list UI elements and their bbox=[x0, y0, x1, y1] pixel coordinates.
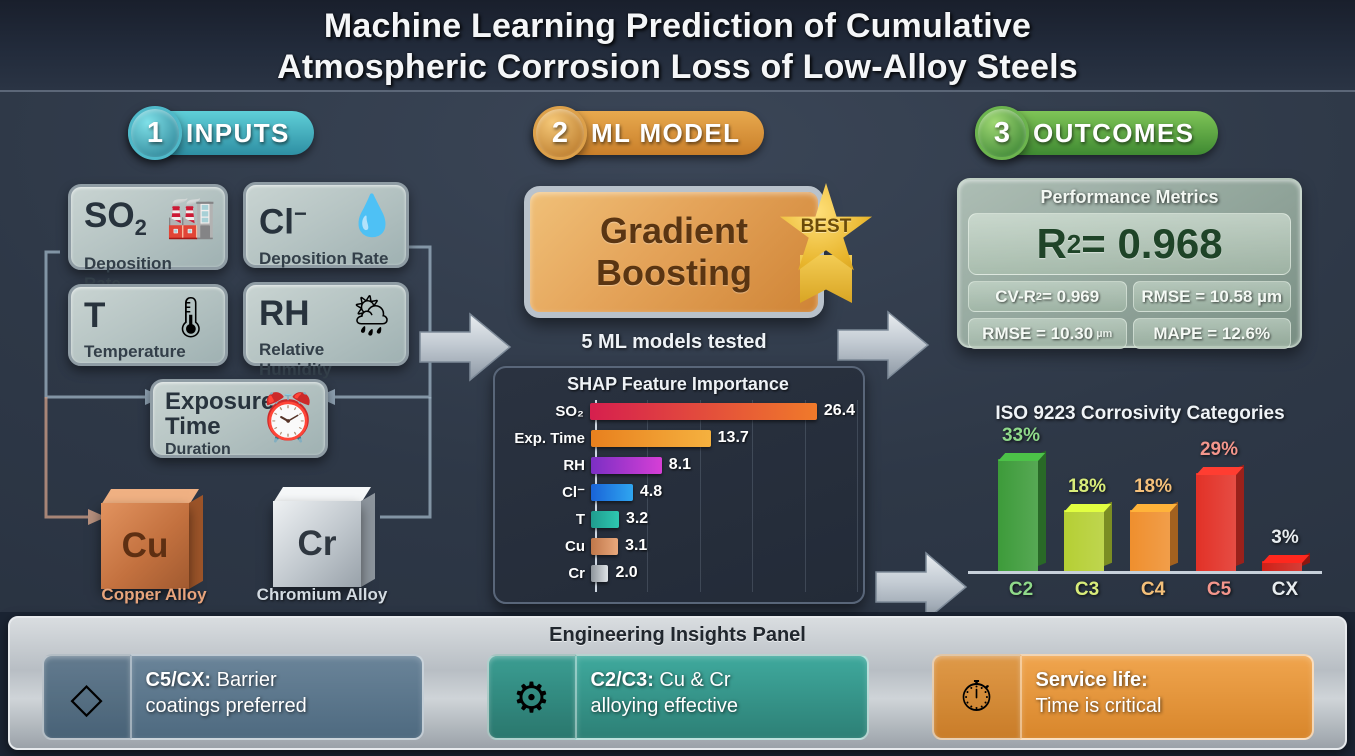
so2-symbol-text: SO bbox=[84, 196, 135, 235]
metric-cv-r2-text: CV-R bbox=[995, 287, 1036, 307]
input-card-temperature[interactable]: T Temperature 🌡 bbox=[68, 284, 228, 366]
step-number-3: 3 bbox=[975, 106, 1029, 160]
metric-rmse: RMSE = 10.58 µm bbox=[1133, 281, 1292, 312]
insight-card[interactable]: ⚙C2/C3: Cu & Cralloying effective bbox=[487, 654, 869, 740]
shap-bar bbox=[591, 430, 711, 447]
alarm-clock-icon: ⏰ bbox=[260, 396, 317, 438]
insight-card-line-2: Time is critical bbox=[1036, 695, 1162, 717]
input-card-exposure-time[interactable]: Exposure Time Duration ⏰ bbox=[150, 379, 328, 458]
iso-bar-side bbox=[1236, 465, 1244, 566]
metric-rmse-2-text: RMSE = 10.30 bbox=[982, 324, 1093, 344]
step-label-model: ML MODEL bbox=[591, 118, 740, 149]
iso-value-label: 29% bbox=[1190, 439, 1248, 461]
shap-category-label: RH bbox=[501, 457, 591, 474]
input-card-chloride[interactable]: Cl− Deposition Rate 💧 bbox=[243, 182, 409, 268]
shap-category-label: Cr bbox=[501, 565, 591, 582]
shap-bar-row: SO₂26.4 bbox=[501, 400, 855, 422]
insight-card-bold: C2/C3: bbox=[591, 669, 654, 691]
shap-value-label: 3.1 bbox=[625, 537, 647, 555]
iso-corrosivity-chart: 33%C218%C318%C429%C53%CX bbox=[960, 430, 1330, 602]
iso-bar-column: 18%C4 bbox=[1130, 510, 1176, 571]
iso-baseline bbox=[968, 571, 1322, 574]
metrics-grid: CV-R2 = 0.969 RMSE = 10.58 µm RMSE = 10.… bbox=[968, 281, 1291, 349]
iso-category-label: C5 bbox=[1189, 579, 1249, 601]
iso-bar-side bbox=[1104, 502, 1112, 566]
copper-cube-side bbox=[189, 495, 203, 589]
r2-value: = 0.968 bbox=[1081, 220, 1222, 268]
model-card-gradient-boosting[interactable]: Gradient Boosting bbox=[524, 186, 824, 318]
iso-category-label: C2 bbox=[991, 579, 1051, 601]
shap-category-label: T bbox=[501, 511, 591, 528]
insights-card-row: ◇C5/CX: Barriercoatings preferred⚙C2/C3:… bbox=[10, 654, 1345, 740]
iso-bar-front bbox=[1130, 510, 1170, 571]
insight-card-text: Service life:Time is critical bbox=[1020, 654, 1314, 740]
iso-bar-column: 18%C3 bbox=[1064, 510, 1110, 571]
shap-value-label: 26.4 bbox=[824, 402, 855, 420]
iso-bar bbox=[1262, 561, 1308, 571]
metric-cv-r2: CV-R2 = 0.969 bbox=[968, 281, 1127, 312]
chromium-cube-symbol: Cr bbox=[273, 501, 361, 587]
step-label-outcomes: OUTCOMES bbox=[1033, 118, 1194, 149]
shap-bar-row: RH8.1 bbox=[501, 454, 855, 476]
iso-bar-column: 33%C2 bbox=[998, 459, 1044, 571]
insight-card[interactable]: ⏱Service life:Time is critical bbox=[932, 654, 1314, 740]
insight-card[interactable]: ◇C5/CX: Barriercoatings preferred bbox=[42, 654, 424, 740]
engineering-insights-panel: Engineering Insights Panel ◇C5/CX: Barri… bbox=[8, 616, 1347, 750]
iso-bar-top bbox=[1196, 467, 1243, 475]
performance-metrics-panel: Performance Metrics R2 = 0.968 CV-R2 = 0… bbox=[957, 178, 1302, 348]
metrics-panel-title: Performance Metrics bbox=[968, 187, 1291, 208]
thermometer-icon: 🌡 bbox=[165, 297, 216, 339]
shap-bar-row: Cr2.0 bbox=[501, 562, 855, 584]
alloy-label-copper: Copper Alloy bbox=[92, 585, 216, 605]
r2-prefix: R bbox=[1036, 220, 1066, 268]
shap-category-label: Exp. Time bbox=[501, 430, 591, 447]
layers-coating-icon: ◇ bbox=[42, 654, 130, 740]
shap-bar bbox=[591, 538, 618, 555]
iso-value-label: 18% bbox=[1124, 476, 1182, 498]
insight-card-text: C2/C3: Cu & Cralloying effective bbox=[575, 654, 869, 740]
alloy-label-chromium: Chromium Alloy bbox=[238, 585, 406, 605]
input-card-humidity[interactable]: RH Relative Humidity 🌦 bbox=[243, 282, 409, 366]
iso-value-label: 18% bbox=[1058, 476, 1116, 498]
insight-card-line-2: coatings preferred bbox=[146, 695, 307, 717]
input-caption-humidity: Relative Humidity bbox=[259, 340, 393, 380]
iso-bar bbox=[998, 459, 1044, 571]
insight-card-text: C5/CX: Barriercoatings preferred bbox=[130, 654, 424, 740]
alloy-cube-copper[interactable]: Cu bbox=[93, 489, 197, 593]
shap-category-label: Cl⁻ bbox=[501, 483, 591, 501]
page-title-line-1: Machine Learning Prediction of Cumulativ… bbox=[0, 6, 1355, 47]
input-caption-temperature: Temperature bbox=[84, 342, 212, 362]
shap-bar bbox=[591, 511, 619, 528]
shap-bar bbox=[591, 484, 633, 501]
r2-headline: R2 = 0.968 bbox=[968, 213, 1291, 275]
shap-value-label: 8.1 bbox=[669, 456, 691, 474]
shap-bar bbox=[591, 565, 608, 582]
step-label-inputs: INPUTS bbox=[186, 118, 290, 149]
iso-bar-side bbox=[1038, 451, 1046, 566]
infographic-stage: INPUTS 1 ML MODEL 2 OUTCOMES 3 SO2 Depos… bbox=[0, 92, 1355, 612]
iso-value-label: 3% bbox=[1256, 527, 1314, 549]
insight-card-bold: C5/CX: bbox=[146, 669, 212, 691]
chromium-cube-side bbox=[361, 493, 375, 587]
iso-bar-top bbox=[1130, 504, 1177, 512]
iso-bar bbox=[1064, 510, 1110, 571]
best-badge-label: BEST bbox=[801, 216, 852, 238]
step-badge-inputs: INPUTS 1 bbox=[128, 109, 314, 157]
alloy-cube-chromium[interactable]: Cr bbox=[265, 487, 369, 591]
humidity-cloud-icon: 🌦 bbox=[346, 295, 397, 337]
iso-chart-title: ISO 9223 Corrosivity Categories bbox=[940, 403, 1340, 425]
water-drop-icon: 💧 bbox=[347, 195, 397, 237]
iso-bar-front bbox=[998, 459, 1038, 571]
model-subtitle: 5 ML models tested bbox=[524, 331, 824, 354]
shap-category-label: SO₂ bbox=[501, 403, 590, 420]
iso-category-label: CX bbox=[1255, 579, 1315, 601]
shap-value-label: 2.0 bbox=[615, 564, 637, 582]
shap-plot-area: SO₂26.4Exp. Time13.7RH8.1Cl⁻4.8T3.2Cu3.1… bbox=[501, 400, 855, 598]
model-name-line-2: Boosting bbox=[596, 252, 752, 294]
model-name-line-1: Gradient bbox=[600, 210, 748, 252]
input-card-so2[interactable]: SO2 Deposition Rate 🏭 bbox=[68, 184, 228, 270]
input-caption-chloride: Deposition Rate bbox=[259, 249, 393, 269]
iso-bar bbox=[1196, 473, 1242, 571]
iso-bar-side bbox=[1170, 502, 1178, 566]
shap-value-label: 13.7 bbox=[718, 429, 749, 447]
factory-icon: 🏭 bbox=[166, 197, 216, 239]
arrow-shap-to-iso bbox=[876, 553, 966, 612]
iso-bar-top bbox=[1262, 555, 1309, 563]
iso-bar-front bbox=[1196, 473, 1236, 571]
exposure-caption: Duration bbox=[165, 441, 313, 459]
metric-rmse-secondary: RMSE = 10.30µm bbox=[968, 318, 1127, 349]
shap-bar bbox=[591, 457, 662, 474]
page-title-bar: Machine Learning Prediction of Cumulativ… bbox=[0, 0, 1355, 92]
insight-card-bold: Service life: bbox=[1036, 669, 1148, 691]
copper-cube-symbol: Cu bbox=[101, 503, 189, 589]
shap-bar bbox=[590, 403, 817, 420]
shap-feature-importance-chart: SHAP Feature Importance SO₂26.4Exp. Time… bbox=[493, 366, 865, 604]
step-number-1: 1 bbox=[128, 106, 182, 160]
metric-cv-r2-rest: = 0.969 bbox=[1042, 287, 1099, 307]
iso-bar-front bbox=[1064, 510, 1104, 571]
iso-value-label: 33% bbox=[992, 425, 1050, 447]
iso-bar-top bbox=[998, 453, 1045, 461]
shap-value-label: 3.2 bbox=[626, 510, 648, 528]
shap-gridline bbox=[857, 400, 858, 592]
shap-category-label: Cu bbox=[501, 538, 591, 555]
iso-bar-column: 29%C5 bbox=[1196, 473, 1242, 571]
shap-value-label: 4.8 bbox=[640, 483, 662, 501]
insights-panel-title: Engineering Insights Panel bbox=[10, 618, 1345, 647]
r2-superscript: 2 bbox=[1067, 229, 1081, 260]
shap-bar-row: T3.2 bbox=[501, 508, 855, 530]
gears-icon: ⚙ bbox=[487, 654, 575, 740]
iso-bar-top bbox=[1064, 504, 1111, 512]
iso-bar bbox=[1130, 510, 1176, 571]
step-number-2: 2 bbox=[533, 106, 587, 160]
iso-category-label: C3 bbox=[1057, 579, 1117, 601]
iso-bar-column: 3%CX bbox=[1262, 561, 1308, 571]
step-badge-outcomes: OUTCOMES 3 bbox=[975, 109, 1218, 157]
shap-bar-row: Cl⁻4.8 bbox=[501, 481, 855, 503]
so2-subscript: 2 bbox=[135, 215, 147, 240]
insight-card-line-2: alloying effective bbox=[591, 695, 739, 717]
shap-bar-row: Exp. Time13.7 bbox=[501, 427, 855, 449]
step-badge-model: ML MODEL 2 bbox=[533, 109, 764, 157]
page-title-line-2: Atmospheric Corrosion Loss of Low-Alloy … bbox=[0, 47, 1355, 88]
iso-category-label: C4 bbox=[1123, 579, 1183, 601]
metric-rmse-2-unit: µm bbox=[1096, 328, 1112, 340]
shap-bar-row: Cu3.1 bbox=[501, 535, 855, 557]
cl-superscript: − bbox=[294, 201, 307, 226]
metric-mape: MAPE = 12.6% bbox=[1133, 318, 1292, 349]
cl-symbol-text: Cl bbox=[259, 203, 294, 242]
shap-chart-title: SHAP Feature Importance bbox=[501, 374, 855, 395]
clock-hourglass-icon: ⏱ bbox=[932, 654, 1020, 740]
